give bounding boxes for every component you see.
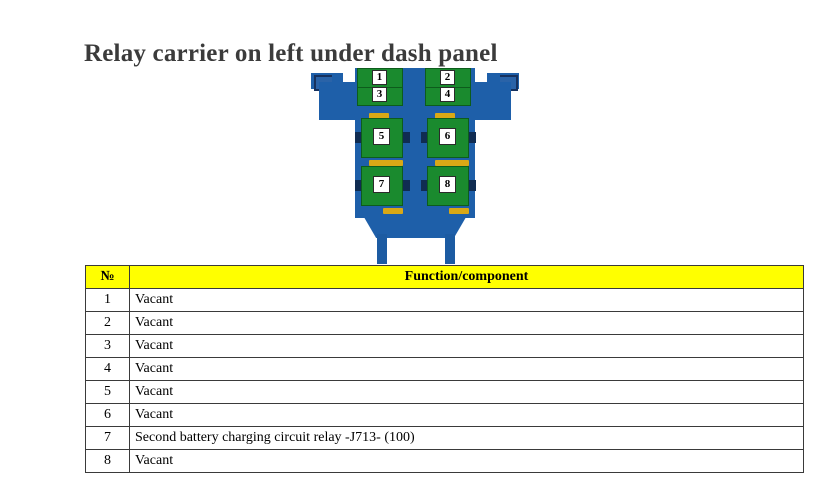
cell-function: Vacant: [130, 381, 804, 404]
relay-tab-gold: [449, 208, 469, 214]
table-body: 1Vacant2Vacant3Vacant4Vacant5Vacant6Vaca…: [86, 289, 804, 473]
table-row: 3Vacant: [86, 335, 804, 358]
table-row: 1Vacant: [86, 289, 804, 312]
cell-function: Vacant: [130, 312, 804, 335]
cell-function: Vacant: [130, 289, 804, 312]
relay-side-clip: [403, 132, 410, 143]
table-row: 5Vacant: [86, 381, 804, 404]
relay-assignment-table: № Function/component 1Vacant2Vacant3Vaca…: [85, 265, 804, 473]
relay-side-clip: [469, 132, 476, 143]
cell-function: Vacant: [130, 358, 804, 381]
column-header-function: Function/component: [130, 266, 804, 289]
cell-number: 2: [86, 312, 130, 335]
column-header-number: №: [86, 266, 130, 289]
cell-number: 5: [86, 381, 130, 404]
housing-leg-left: [377, 234, 387, 264]
cell-number: 3: [86, 335, 130, 358]
cell-number: 6: [86, 404, 130, 427]
table-row: 6Vacant: [86, 404, 804, 427]
cell-number: 4: [86, 358, 130, 381]
cell-function: Vacant: [130, 404, 804, 427]
relay-number-label-2: 2: [440, 70, 455, 85]
cut-off-text-sliver: [84, 0, 384, 5]
relay-number-label-7: 7: [373, 176, 390, 193]
table-row: 8Vacant: [86, 450, 804, 473]
cell-function: Second battery charging circuit relay -J…: [130, 427, 804, 450]
cell-number: 1: [86, 289, 130, 312]
cell-function: Vacant: [130, 450, 804, 473]
table-header-row: № Function/component: [86, 266, 804, 289]
relay-number-label-8: 8: [439, 176, 456, 193]
relay-number-label-6: 6: [439, 128, 456, 145]
table-row: 7Second battery charging circuit relay -…: [86, 427, 804, 450]
housing-leg-right: [445, 234, 455, 264]
relay-side-clip: [469, 180, 476, 191]
relay-number-label-1: 1: [372, 70, 387, 85]
table-row: 4Vacant: [86, 358, 804, 381]
relay-carrier-diagram: 1 2 3 4 5 6 7 8: [305, 62, 525, 262]
relay-tab-gold: [383, 208, 403, 214]
cell-function: Vacant: [130, 335, 804, 358]
table-row: 2Vacant: [86, 312, 804, 335]
cell-number: 7: [86, 427, 130, 450]
cell-number: 8: [86, 450, 130, 473]
relay-number-label-4: 4: [440, 87, 455, 102]
relay-number-label-5: 5: [373, 128, 390, 145]
relay-side-clip: [403, 180, 410, 191]
relay-number-label-3: 3: [372, 87, 387, 102]
